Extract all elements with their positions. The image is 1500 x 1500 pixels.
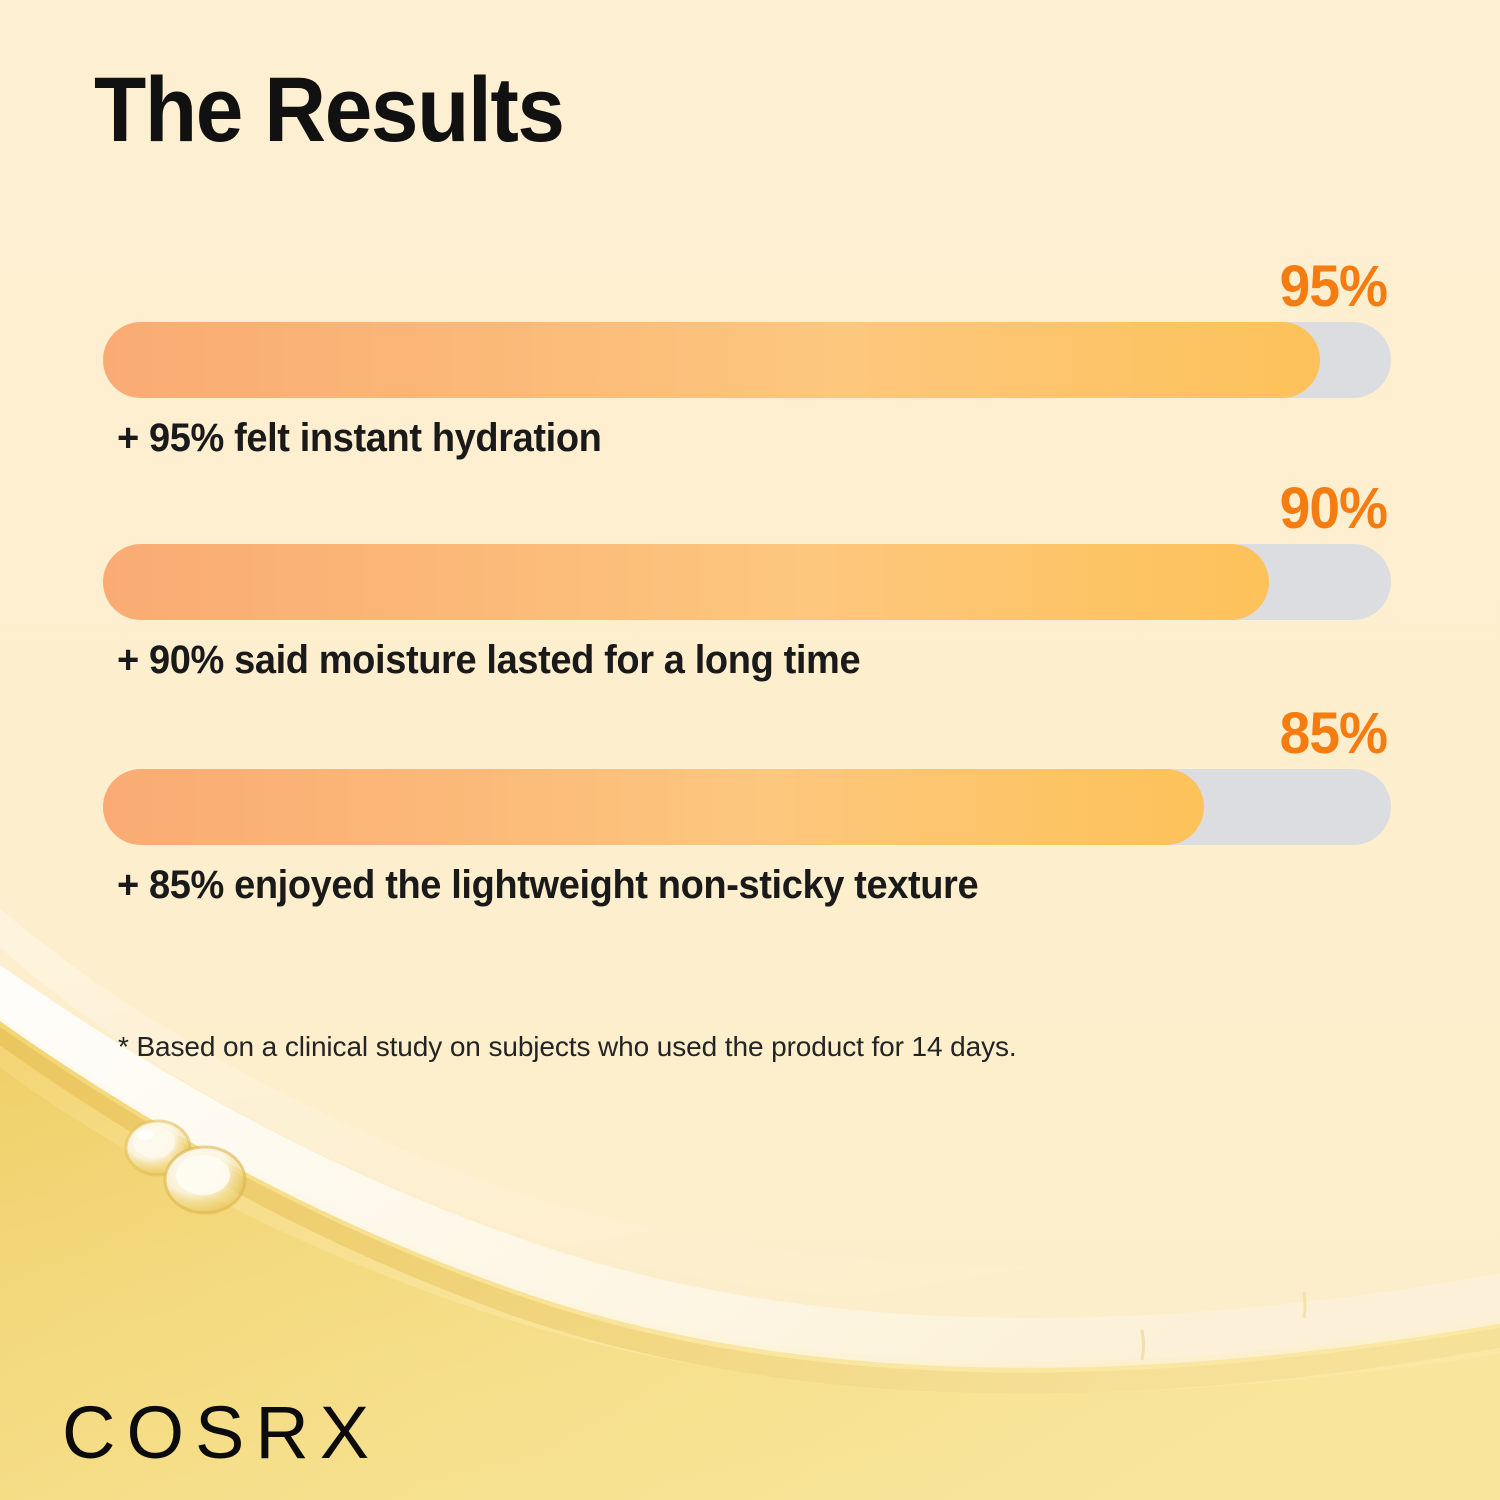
result-caption: + 95% felt instant hydration — [117, 418, 602, 458]
progress-bar-fill — [103, 544, 1269, 620]
progress-bar-track — [103, 322, 1391, 398]
oil-droplet-streak-b — [1304, 1292, 1305, 1318]
progress-bar-track — [103, 769, 1391, 845]
result-row: 90% + 90% said moisture lasted for a lon… — [103, 544, 1391, 620]
oil-background-artwork — [0, 0, 1500, 1500]
study-footnote: * Based on a clinical study on subjects … — [118, 1031, 1017, 1063]
page-title: The Results — [94, 64, 564, 156]
bubble-small — [126, 1121, 190, 1175]
oil-droplet-streak-a — [1142, 1330, 1144, 1360]
percent-label: 90% — [1280, 480, 1387, 538]
brand-logo: COSRX — [62, 1396, 380, 1470]
result-caption: + 90% said moisture lasted for a long ti… — [117, 640, 860, 680]
bubble-large-core — [176, 1155, 230, 1195]
infographic-page: The Results 95% + 95% felt instant hydra… — [0, 0, 1500, 1500]
bubble-large — [165, 1147, 245, 1213]
progress-bar-track — [103, 544, 1391, 620]
percent-label: 95% — [1280, 258, 1387, 316]
progress-bar-fill — [103, 769, 1204, 845]
oil-rim-edge — [0, 1020, 1500, 1393]
oil-rim-highlight — [0, 958, 1500, 1368]
result-row: 85% + 85% enjoyed the lightweight non-st… — [103, 769, 1391, 845]
progress-bar-fill — [103, 322, 1320, 398]
oil-sheen — [0, 900, 1500, 1305]
oil-bubble-cluster — [126, 1121, 245, 1213]
result-caption: + 85% enjoyed the lightweight non-sticky… — [117, 865, 978, 905]
percent-label: 85% — [1280, 705, 1387, 763]
result-row: 95% + 95% felt instant hydration — [103, 322, 1391, 398]
bubble-specular — [137, 1130, 153, 1140]
bubble-small-core — [133, 1126, 175, 1158]
